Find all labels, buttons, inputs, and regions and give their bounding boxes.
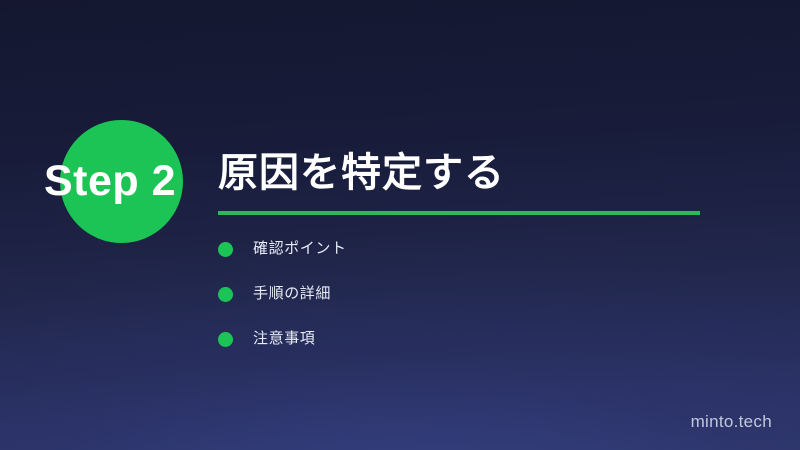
- list-item: 手順の詳細: [218, 283, 678, 305]
- step-badge-label: Step 2: [44, 150, 204, 212]
- list-item-label: 注意事項: [253, 328, 315, 350]
- list-item: 確認ポイント: [218, 238, 678, 260]
- bullet-list: 確認ポイント 手順の詳細 注意事項: [218, 238, 678, 373]
- slide-content: Step 2 原因を特定する 確認ポイント 手順の詳細 注意事項 minto.t…: [0, 0, 800, 450]
- page-title: 原因を特定する: [218, 148, 505, 198]
- brand-watermark: minto.tech: [691, 412, 772, 432]
- list-item: 注意事項: [218, 328, 678, 350]
- list-item-label: 手順の詳細: [253, 283, 331, 305]
- bullet-dot-icon: [218, 332, 233, 347]
- slide-canvas: Step 2 原因を特定する 確認ポイント 手順の詳細 注意事項 minto.t…: [0, 0, 800, 450]
- bullet-dot-icon: [218, 242, 233, 257]
- bullet-dot-icon: [218, 287, 233, 302]
- title-divider: [218, 211, 700, 215]
- list-item-label: 確認ポイント: [253, 238, 347, 260]
